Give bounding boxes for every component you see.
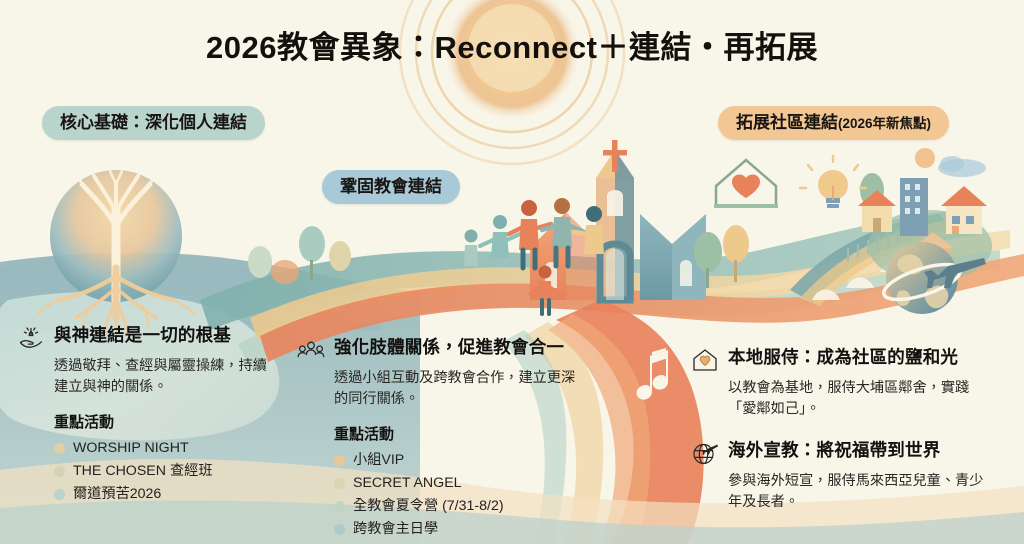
house-heart-icon xyxy=(690,345,720,375)
bullet-dot xyxy=(54,466,65,477)
badge-church-label: 鞏固教會連結 xyxy=(340,177,442,196)
badge-outreach-sublabel: (2026年新焦點) xyxy=(838,116,931,131)
block-overseas-mission: 海外宣教：將祝福帶到世界 參與海外短宣，服侍馬來西亞兒童、青少年及長者。 xyxy=(690,437,990,512)
block-strengthen-fellowship: 強化肢體關係，促進教會合一 透過小組互動及跨教會合作，建立更深的同行關係。 xyxy=(296,334,584,409)
activity-list: WORSHIP NIGHT THE CHOSEN 查經班 爾道預苦2026 xyxy=(54,437,278,506)
left-activities: 重點活動 WORSHIP NIGHT THE CHOSEN 查經班 爾道預苦20… xyxy=(16,411,278,506)
block-header: 強化肢體關係，促進教會合一 xyxy=(296,334,584,365)
list-item-label: THE CHOSEN 查經班 xyxy=(73,460,213,483)
block-header: 與神連結是一切的根基 xyxy=(16,322,278,353)
badge-community-outreach[interactable]: 拓展社區連結(2026年新焦點) xyxy=(718,106,949,140)
block-body: 透過小組互動及跨教會合作，建立更深的同行關係。 xyxy=(296,368,584,409)
list-item[interactable]: 跨教會主日學 xyxy=(334,518,584,541)
globe-airplane-icon xyxy=(690,438,720,468)
list-item-label: SECRET ANGEL xyxy=(353,472,462,495)
block-title: 本地服侍：成為社區的鹽和光 xyxy=(728,344,958,368)
list-item[interactable]: SECRET ANGEL xyxy=(334,472,584,495)
list-item[interactable]: 全教會夏令營 (7/31-8/2) xyxy=(334,495,584,518)
list-item-label: 小組VIP xyxy=(353,449,404,472)
block-connect-with-god: 與神連結是一切的根基 透過敬拜、查經與屬靈操練，持續建立與神的關係。 xyxy=(16,322,278,397)
list-item-label: WORSHIP NIGHT xyxy=(73,437,189,460)
block-body: 透過敬拜、查經與屬靈操練，持續建立與神的關係。 xyxy=(16,356,278,397)
column-community-outreach: 本地服侍：成為社區的鹽和光 以教會為基地，服侍大埔區鄰舍，實踐「愛鄰如己」。 海… xyxy=(690,344,990,512)
bullet-dot xyxy=(334,524,345,535)
activity-list: 小組VIP SECRET ANGEL 全教會夏令營 (7/31-8/2) 跨教會… xyxy=(334,449,584,541)
badge-core-label: 核心基礎：深化個人連結 xyxy=(60,113,247,132)
list-item[interactable]: 爾道預苦2026 xyxy=(54,483,278,506)
block-body: 參與海外短宣，服侍馬來西亞兒童、青少年及長者。 xyxy=(690,471,990,512)
bullet-dot xyxy=(54,443,65,454)
hand-with-sprout-icon xyxy=(16,323,46,353)
badge-church-connection[interactable]: 鞏固教會連結 xyxy=(322,170,460,204)
title-area: 2026教會異象：Reconnect＋連結・再拓展 xyxy=(0,22,1024,67)
list-item[interactable]: 小組VIP xyxy=(334,449,584,472)
badge-core-foundation[interactable]: 核心基礎：深化個人連結 xyxy=(42,106,265,140)
badge-outreach-label: 拓展社區連結 xyxy=(736,113,838,132)
bullet-dot xyxy=(54,489,65,500)
column-core-foundation: 與神連結是一切的根基 透過敬拜、查經與屬靈操練，持續建立與神的關係。 重點活動 … xyxy=(16,322,278,506)
block-body: 以教會為基地，服侍大埔區鄰舍，實踐「愛鄰如己」。 xyxy=(690,378,990,419)
list-item[interactable]: THE CHOSEN 查經班 xyxy=(54,460,278,483)
bullet-dot xyxy=(334,501,345,512)
block-title: 與神連結是一切的根基 xyxy=(54,322,231,346)
page-title: 2026教會異象：Reconnect＋連結・再拓展 xyxy=(0,22,1024,67)
bullet-dot xyxy=(334,478,345,489)
list-heading: 重點活動 xyxy=(334,423,584,444)
list-item-label: 跨教會主日學 xyxy=(353,518,438,541)
block-local-service: 本地服侍：成為社區的鹽和光 以教會為基地，服侍大埔區鄰舍，實踐「愛鄰如己」。 xyxy=(690,344,990,419)
column-church-connection: 強化肢體關係，促進教會合一 透過小組互動及跨教會合作，建立更深的同行關係。 重點… xyxy=(296,334,584,541)
list-heading: 重點活動 xyxy=(54,411,278,432)
middle-activities: 重點活動 小組VIP SECRET ANGEL 全教會夏令營 (7/31-8/2… xyxy=(296,423,584,541)
block-title: 強化肢體關係，促進教會合一 xyxy=(334,334,564,358)
people-group-icon xyxy=(296,335,326,365)
list-item-label: 爾道預苦2026 xyxy=(73,483,161,506)
block-header: 本地服侍：成為社區的鹽和光 xyxy=(690,344,990,375)
block-header: 海外宣教：將祝福帶到世界 xyxy=(690,437,990,468)
list-item[interactable]: WORSHIP NIGHT xyxy=(54,437,278,460)
bullet-dot xyxy=(334,455,345,466)
list-item-label: 全教會夏令營 (7/31-8/2) xyxy=(353,495,504,518)
block-title: 海外宣教：將祝福帶到世界 xyxy=(728,437,940,461)
infographic-poster: 2026教會異象：Reconnect＋連結・再拓展 核心基礎：深化個人連結 鞏固… xyxy=(0,0,1024,544)
